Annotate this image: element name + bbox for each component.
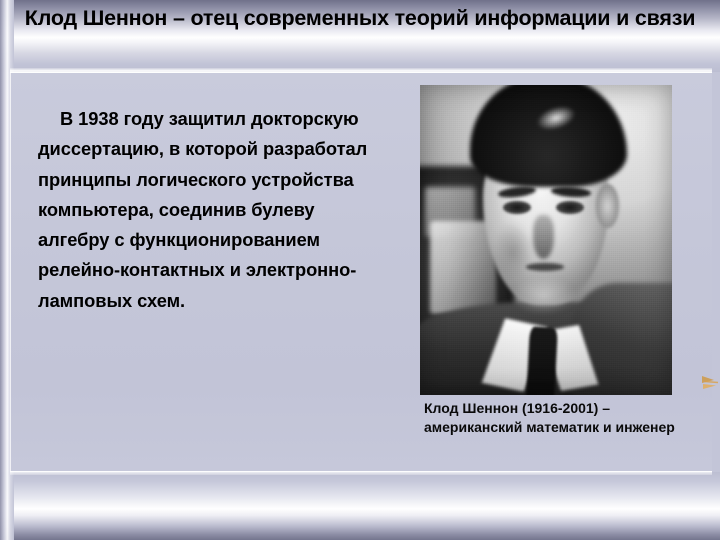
portrait-photo [420, 85, 672, 395]
slide: Клод Шеннон – отец современных теорий ин… [0, 0, 720, 540]
panel-bottom-highlight [10, 471, 712, 475]
portrait-photo-image [420, 85, 672, 395]
photo-vignette [420, 85, 672, 395]
orange-arrow-icon [700, 372, 720, 394]
slide-title: Клод Шеннон – отец современных теорий ин… [0, 4, 720, 33]
photo-caption: Клод Шеннон (1916-2001) – американский м… [424, 399, 686, 437]
slide-body-text: В 1938 году защитил докторскую диссертац… [38, 104, 370, 316]
orange-arrow-decoration-icon [700, 372, 720, 394]
panel-top-highlight [10, 68, 712, 73]
bottom-metallic-band [0, 472, 720, 540]
